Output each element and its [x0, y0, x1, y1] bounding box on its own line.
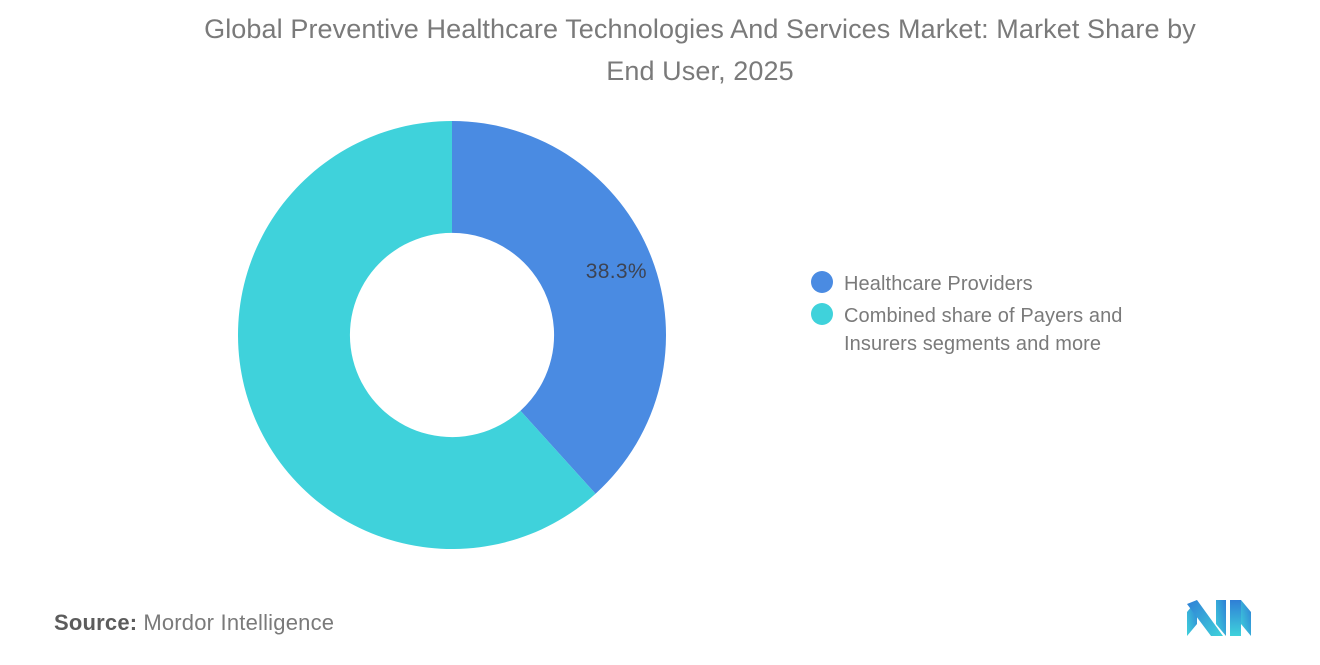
legend-swatch-icon	[811, 303, 833, 325]
legend-swatch-icon	[811, 271, 833, 293]
legend-item[interactable]: Healthcare Providers	[811, 270, 1211, 298]
mordor-intelligence-logo-icon	[1185, 598, 1253, 638]
legend-item[interactable]: Combined share of Payers and Insurers se…	[811, 302, 1211, 358]
legend-item-label: Healthcare Providers	[844, 270, 1033, 298]
source-value: Mordor Intelligence	[143, 610, 334, 635]
legend-item-label: Combined share of Payers and Insurers se…	[844, 302, 1164, 358]
page-title: Global Preventive Healthcare Technologie…	[190, 8, 1210, 92]
chart-legend: Healthcare Providers Combined share of P…	[811, 270, 1211, 362]
source-attribution: Source:Mordor Intelligence	[54, 610, 334, 636]
donut-slice-group	[238, 121, 666, 549]
donut-chart-svg	[238, 121, 666, 549]
source-label: Source:	[54, 610, 137, 635]
donut-chart: 38.3%	[238, 121, 666, 549]
chart-page: Global Preventive Healthcare Technologie…	[0, 0, 1320, 665]
